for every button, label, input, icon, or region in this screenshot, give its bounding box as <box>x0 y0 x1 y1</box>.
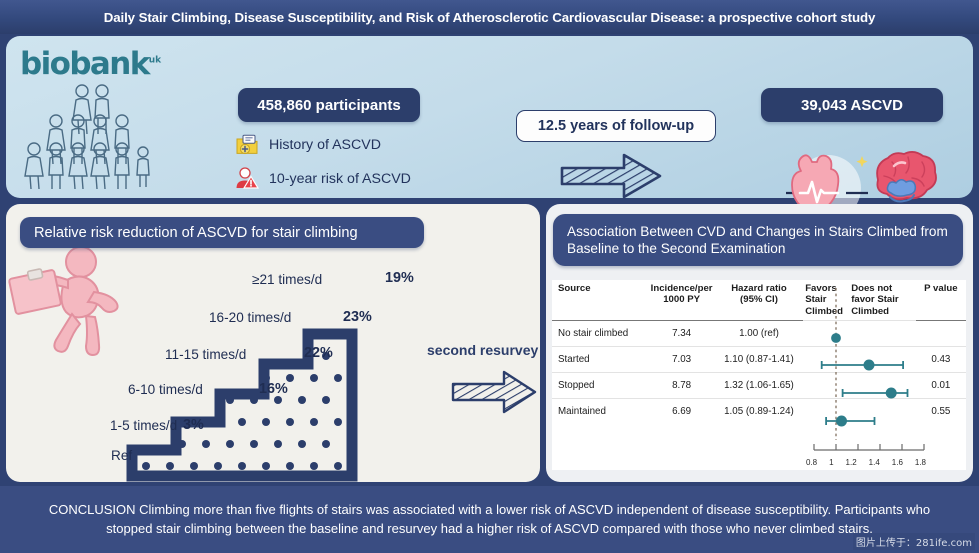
conclusion-text: CONCLUSION Climbing more than five fligh… <box>26 501 953 539</box>
factor-ten-year-risk: 10-year risk of ASCVD <box>234 166 411 192</box>
cell-source: No stair climbed <box>552 320 648 346</box>
cell-source: Maintained <box>552 398 648 424</box>
biobank-logo: biobankuk <box>20 46 180 80</box>
th-hazard-ratio: Hazard ratio (95% CI) <box>715 280 803 320</box>
conclusion-panel: CONCLUSION Climbing more than five fligh… <box>0 486 979 553</box>
step-pct-2: 16% <box>259 381 288 397</box>
left-panel-header: Relative risk reduction of ASCVD for sta… <box>20 217 424 248</box>
tick-3: 1.4 <box>869 458 880 467</box>
cell-plot <box>803 320 916 346</box>
step-label-ref: Ref <box>111 448 132 463</box>
left-panel-header-label: Relative risk reduction of ASCVD for sta… <box>34 225 358 241</box>
table-row: No stair climbed 7.34 1.00 (ref) <box>552 320 966 346</box>
tick-5: 1.8 <box>915 458 926 467</box>
timeline-arrow-icon <box>556 148 666 204</box>
cell-hr: 1.32 (1.06-1.65) <box>715 372 803 398</box>
cell-p: 0.01 <box>916 372 966 398</box>
factor-label: 10-year risk of ASCVD <box>269 171 411 187</box>
cell-incidence: 7.34 <box>648 320 714 346</box>
cell-hr: 1.05 (0.89-1.24) <box>715 398 803 424</box>
forest-plot-table: Source Incidence/per 1000 PY Hazard rati… <box>552 280 966 470</box>
tick-0: 0.8 <box>806 458 817 467</box>
step-label-1: 1-5 times/d <box>110 418 177 433</box>
folder-plus-icon <box>234 132 260 158</box>
th-p-value: P value <box>916 280 966 320</box>
step-label-3: 11-15 times/d <box>165 347 246 362</box>
table-row: Started 7.03 1.10 (0.87-1.41) 0.43 <box>552 346 966 372</box>
followup-badge: 12.5 years of follow-up <box>516 110 716 142</box>
th-plot-legend: Favors Stair Climbed Does not favor Stai… <box>803 280 916 320</box>
cell-hr: 1.10 (0.87-1.41) <box>715 346 803 372</box>
cell-p: 0.55 <box>916 398 966 424</box>
cell-source: Stopped <box>552 372 648 398</box>
factor-label: History of ASCVD <box>269 137 381 153</box>
biobank-uk-sup: uk <box>149 56 161 66</box>
infographic-poster: Daily Stair Climbing, Disease Susceptibi… <box>0 0 979 553</box>
stair-climber-figure <box>9 247 118 355</box>
poster-title-bar: Daily Stair Climbing, Disease Susceptibi… <box>0 0 979 34</box>
right-panel-header-label: Association Between CVD and Changes in S… <box>567 223 949 258</box>
ascvd-count-badge: 39,043 ASCVD <box>761 88 943 122</box>
cell-plot <box>803 398 916 424</box>
step-pct-3: 22% <box>304 345 333 361</box>
cell-source: Started <box>552 346 648 372</box>
page-title: Daily Stair Climbing, Disease Susceptibi… <box>104 10 876 25</box>
step-pct-4: 23% <box>343 309 372 325</box>
step-pct-1: 3% <box>183 417 204 433</box>
cell-p: 0.43 <box>916 346 966 372</box>
forest-axis <box>814 444 924 450</box>
watermark: 图片上传于：281ife.com <box>853 533 975 550</box>
cell-plot <box>803 372 916 398</box>
cell-plot <box>803 346 916 372</box>
tick-1: 1 <box>829 458 833 467</box>
step-label-5: ≥21 times/d <box>252 272 322 287</box>
cell-p <box>916 320 966 346</box>
right-panel-header: Association Between CVD and Changes in S… <box>553 214 963 266</box>
tick-4: 1.6 <box>892 458 903 467</box>
study-overview-panel: biobankuk <box>6 36 973 198</box>
cell-incidence: 8.78 <box>648 372 714 398</box>
participants-badge: 458,860 participants <box>238 88 420 122</box>
cell-hr: 1.00 (ref) <box>715 320 803 346</box>
second-resurvey-label: second resurvey <box>427 342 538 358</box>
step-label-4: 16-20 times/d <box>209 310 291 325</box>
tick-2: 1.2 <box>846 458 857 467</box>
forest-axis-tick-labels: 0.8 1 1.2 1.4 1.6 1.8 <box>806 458 926 467</box>
step-pct-5: 19% <box>385 270 414 286</box>
factor-history-ascvd: History of ASCVD <box>234 132 381 158</box>
table-row: Maintained 6.69 1.05 (0.89-1.24) 0.55 <box>552 398 966 424</box>
step-label-2: 6-10 times/d <box>128 382 203 397</box>
table-row: Stopped 8.78 1.32 (1.06-1.65) 0.01 <box>552 372 966 398</box>
biobank-wordmark: biobank <box>20 46 149 82</box>
th-incidence: Incidence/per 1000 PY <box>648 280 714 320</box>
cell-incidence: 7.03 <box>648 346 714 372</box>
cell-incidence: 6.69 <box>648 398 714 424</box>
resurvey-arrow-icon <box>448 366 540 418</box>
th-source: Source <box>552 280 648 320</box>
person-warning-icon <box>234 166 260 192</box>
participants-crowd-icon <box>18 84 178 190</box>
